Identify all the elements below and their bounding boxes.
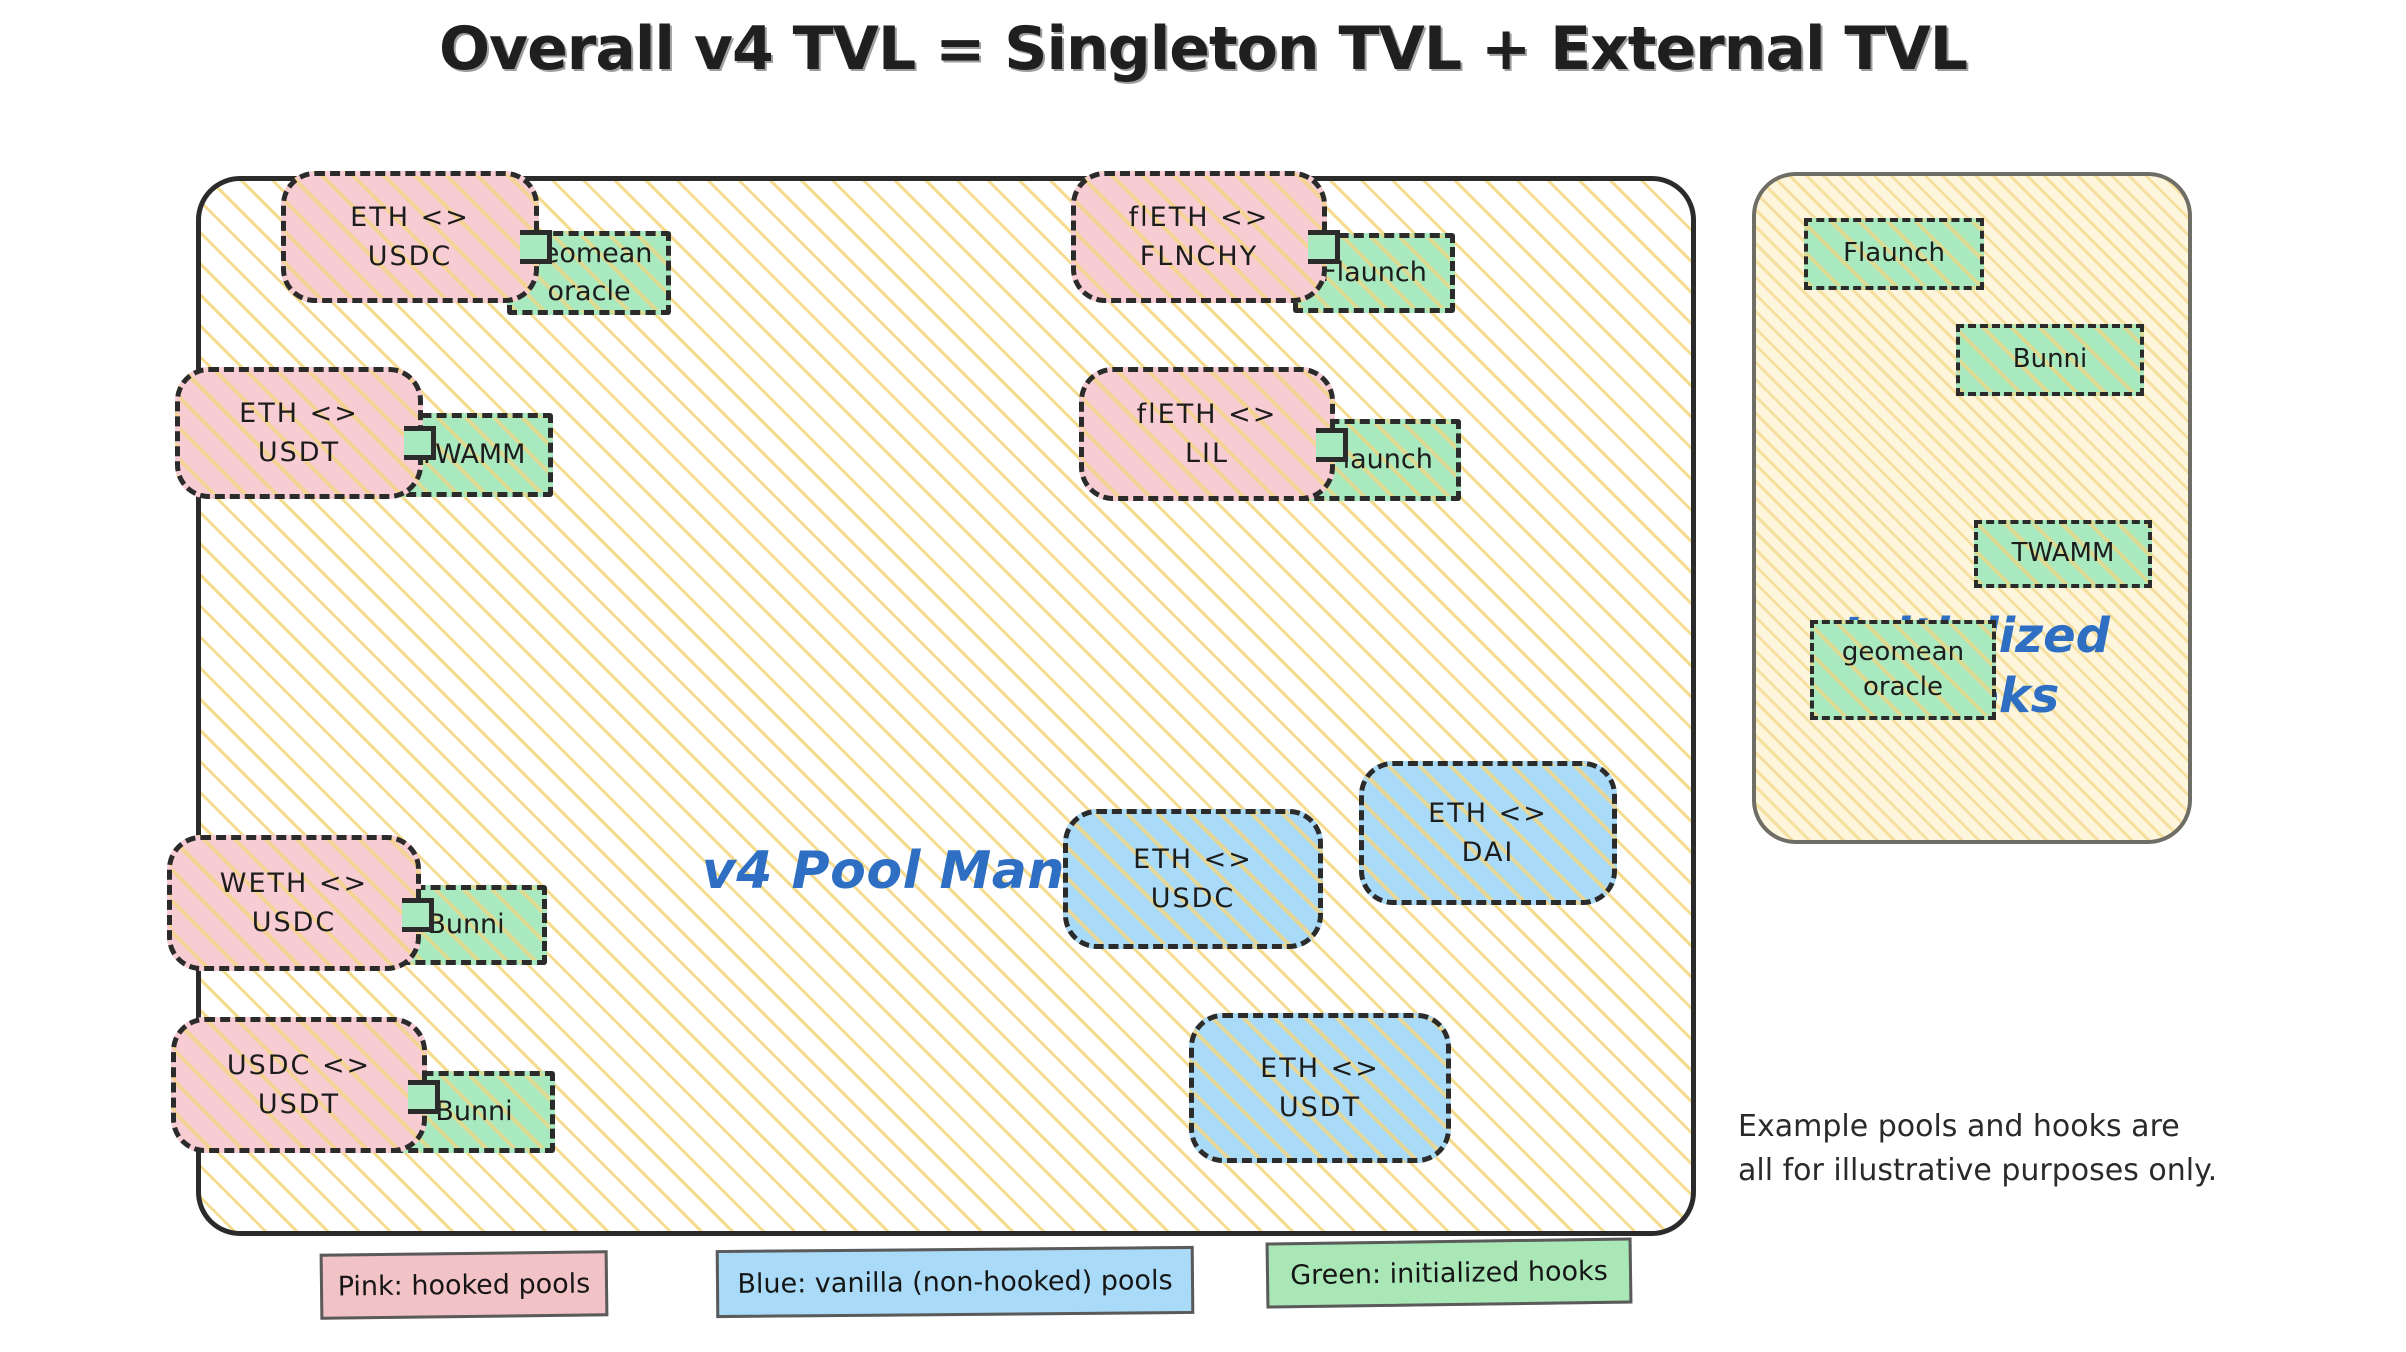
panel-hook-bunni[interactable]: Bunni [1956,324,2144,396]
note-line1: Example pools and hooks are [1738,1109,2180,1144]
pool-token-pair-line2: DAI [1462,833,1515,872]
legend-label: Green: initialized hooks [1290,1255,1608,1290]
pool-token-pair-line1: ETH <> [239,394,359,433]
pool-weth-usdc-hooked[interactable]: WETH <> USDC [167,835,421,971]
hook-connector-notch [408,1080,440,1114]
legend-label: Pink: hooked pools [338,1268,591,1302]
pool-token-pair-line2: USDC [368,237,453,276]
v4-pool-manager-container: v4 Pool Manager ETH <> USDC geomean orac… [196,176,1696,1236]
hook-label-line1: Bunni [435,1093,512,1131]
pool-eth-usdc-vanilla[interactable]: ETH <> USDC [1063,809,1323,949]
pool-eth-usdt-vanilla[interactable]: ETH <> USDT [1189,1013,1451,1163]
pool-usdc-usdt-hooked[interactable]: USDC <> USDT [171,1017,427,1153]
legend-item-green: Green: initialized hooks [1266,1237,1633,1308]
pool-token-pair-line2: USDC [1151,879,1236,918]
hook-label-line2: oracle [1863,670,1943,705]
legend-item-blue: Blue: vanilla (non-hooked) pools [716,1246,1195,1318]
page-title: Overall v4 TVL = Singleton TVL + Externa… [0,14,2406,84]
pool-token-pair-line2: LIL [1185,434,1229,473]
hook-connector-notch [1316,428,1348,462]
hook-label-line1: Flaunch [1843,236,1945,271]
panel-hook-twamm[interactable]: TWAMM [1974,520,2152,588]
pool-token-pair-line2: USDT [258,1085,340,1124]
pool-token-pair-line1: flETH <> [1129,198,1270,237]
hook-label-line1: Bunni [427,906,504,944]
legend-item-pink: Pink: hooked pools [320,1250,609,1320]
pool-eth-dai-vanilla[interactable]: ETH <> DAI [1359,761,1617,905]
pool-token-pair-line1: flETH <> [1137,395,1278,434]
legend-label: Blue: vanilla (non-hooked) pools [737,1265,1172,1300]
hook-label-line2: oracle [547,273,630,311]
pool-token-pair-line1: ETH <> [1260,1049,1380,1088]
hook-connector-notch [520,230,552,264]
note-line2: all for illustrative purposes only. [1738,1153,2217,1188]
illustrative-note: Example pools and hooks are all for illu… [1738,1105,2338,1192]
pool-token-pair-line1: ETH <> [1428,794,1548,833]
panel-hook-geomean-oracle[interactable]: geomean oracle [1810,620,1996,720]
pool-eth-usdt-hooked[interactable]: ETH <> USDT [175,367,423,499]
pool-token-pair-line1: ETH <> [1133,840,1253,879]
panel-hook-flaunch[interactable]: Flaunch [1804,218,1984,290]
hook-label-line1: geomean [1842,635,1964,670]
pool-token-pair-line1: USDC <> [227,1046,371,1085]
pool-token-pair-line1: WETH <> [220,864,368,903]
hook-label-line1: TWAMM [2012,536,2115,571]
pool-token-pair-line2: USDT [258,433,340,472]
pool-token-pair-line1: ETH <> [350,198,470,237]
initialized-hooks-panel: Flaunch Bunni Initialized Hooks TWAMM ge… [1752,172,2192,844]
hook-label-line1: Bunni [2013,342,2088,377]
pool-fleth-flnchy-hooked[interactable]: flETH <> FLNCHY [1071,171,1327,303]
pool-token-pair-line2: USDC [252,903,337,942]
hook-connector-notch [404,426,436,460]
hook-connector-notch [402,898,434,932]
pool-token-pair-line2: FLNCHY [1140,237,1258,276]
pool-fleth-lil-hooked[interactable]: flETH <> LIL [1079,367,1335,501]
hook-connector-notch [1308,230,1340,264]
pool-eth-usdc-hooked[interactable]: ETH <> USDC [281,171,539,303]
pool-token-pair-line2: USDT [1279,1088,1361,1127]
